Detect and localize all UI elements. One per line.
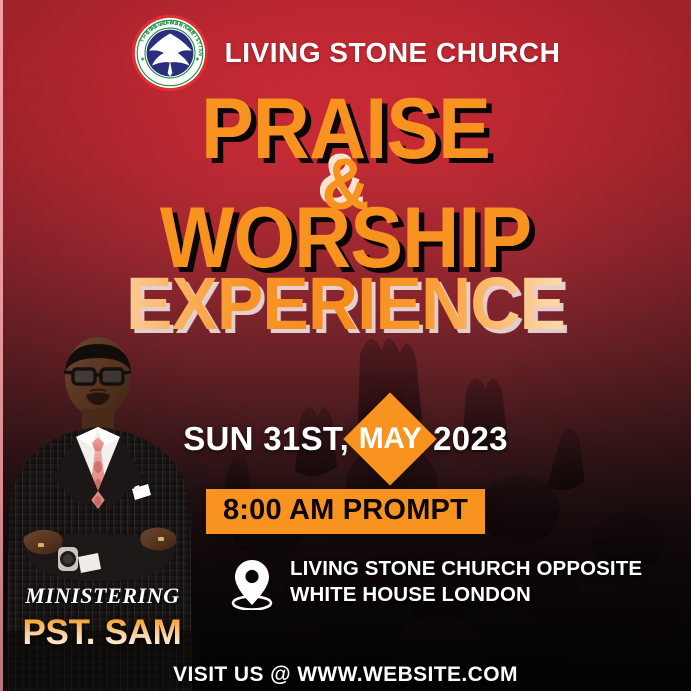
rccg-logo-icon: T H E R E D E E M E D C H R I S T [131,14,209,92]
date-day: SUN 31ST, [183,420,349,458]
svg-text:✶: ✶ [140,57,145,63]
month-diamond-badge: MAY [343,392,436,485]
headline-block: PRAISE & WORSHIP EXPERIENCE [0,96,691,336]
event-date-row: SUN 31ST, MAY 2023 [0,399,691,479]
minister-name: PST. SAM [2,613,202,653]
svg-text:✶: ✶ [195,57,200,63]
location-pin-icon [231,558,273,610]
venue-address-text: LIVING STONE CHURCH OPPOSITE WHITE HOUSE… [290,556,677,608]
church-name: LIVING STONE CHURCH [225,37,561,69]
time-banner: 8:00 AM PROMPT [206,489,485,534]
date-year: 2023 [433,420,508,458]
left-edge-border [0,0,3,691]
venue-address-block: LIVING STONE CHURCH OPPOSITE WHITE HOUSE… [231,556,677,610]
headline-experience: EXPERIENCE [21,271,671,336]
event-flyer: T H E R E D E E M E D C H R I S T [0,0,691,691]
event-time-wrapper: 8:00 AM PROMPT [0,489,691,534]
website-line: VISIT US @ WWW.WEBSITE.COM [0,663,691,687]
svg-text:N: N [196,52,202,56]
month-label: MAY [359,422,421,456]
ministering-label: MINISTERING [10,583,195,609]
svg-text:H: H [169,19,173,25]
